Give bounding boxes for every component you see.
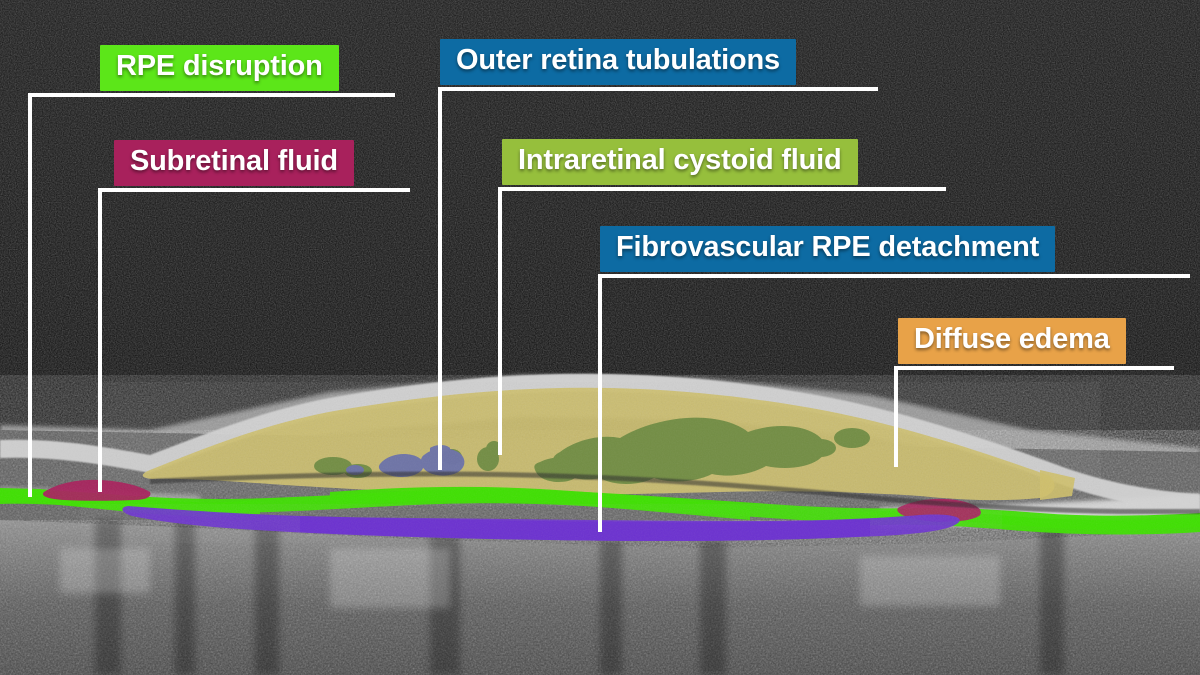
label-outer-retina-tubulations[interactable]: Outer retina tubulations (440, 39, 796, 85)
label-outer-retina-tubulations-text: Outer retina tubulations (456, 43, 780, 78)
label-rpe-disruption[interactable]: RPE disruption (100, 45, 339, 91)
label-fibrovascular-rpe-detachment[interactable]: Fibrovascular RPE detachment (600, 226, 1055, 272)
label-subretinal-fluid[interactable]: Subretinal fluid (114, 140, 354, 186)
oct-annotated-figure: RPE disruption Outer retina tubulations … (0, 0, 1200, 675)
label-diffuse-edema-text: Diffuse edema (914, 322, 1110, 357)
label-subretinal-fluid-text: Subretinal fluid (130, 144, 338, 179)
label-rpe-disruption-text: RPE disruption (116, 49, 323, 84)
label-intraretinal-cystoid-fluid[interactable]: Intraretinal cystoid fluid (502, 139, 858, 185)
label-intraretinal-cystoid-fluid-text: Intraretinal cystoid fluid (518, 143, 842, 178)
label-diffuse-edema[interactable]: Diffuse edema (898, 318, 1126, 364)
label-fibrovascular-rpe-detachment-text: Fibrovascular RPE detachment (616, 230, 1039, 265)
